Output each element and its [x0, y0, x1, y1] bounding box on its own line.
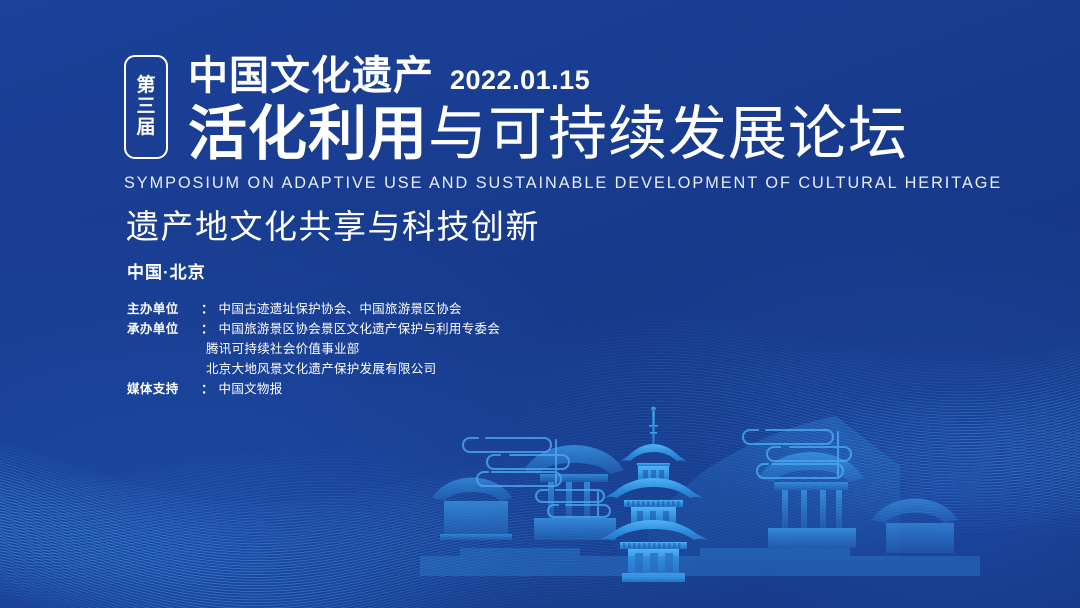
cloud-motif-2 [536, 490, 610, 517]
subtitle-english: SYMPOSIUM ON ADAPTIVE USE AND SUSTAINABL… [124, 175, 991, 192]
title-line-2-emphasis: 活化利用 [188, 103, 428, 166]
title-line-1: 中国文化遗产 [188, 56, 434, 96]
credit-media: 媒体支持 ： 中国文物报 [127, 379, 1004, 399]
credit-media-label: 媒体支持 [127, 379, 201, 399]
credit-media-colon: ： [201, 379, 214, 399]
credit-organizer-label: 承办单位 [127, 319, 201, 339]
title-line-2-rest: 与可持续发展论坛 [428, 103, 908, 166]
pavilion-left-illustration [432, 478, 512, 541]
cloud-motif-1 [463, 438, 569, 486]
pavilion-right-illustration [758, 452, 864, 548]
credit-host-value: 中国古迹遗址保护协会、中国旅游景区协会 [219, 299, 462, 319]
credit-organizer-value: 中国旅游景区协会景区文化遗产保护与利用专委会 [219, 319, 501, 339]
base-wall [420, 548, 980, 576]
pavilion-far-right-illustration [872, 499, 958, 554]
theme-line: 遗产地文化共享与科技创新 [126, 210, 1004, 243]
credit-media-value: 中国文物报 [219, 379, 283, 399]
credit-organizer-line3: 北京大地风景文化遗产保护发展有限公司 [127, 359, 1004, 379]
edition-badge-char-3: 届 [136, 118, 155, 138]
credit-host-colon: ： [201, 299, 214, 319]
credit-host: 主办单位 ： 中国古迹遗址保护协会、中国旅游景区协会 [127, 299, 1004, 319]
edition-badge: 第 三 届 [124, 55, 168, 159]
edition-badge-char-1: 第 [136, 76, 155, 96]
credit-organizer-colon: ： [201, 319, 214, 339]
pagoda-illustration [596, 407, 711, 582]
credits-block: 主办单位 ： 中国古迹遗址保护协会、中国旅游景区协会 承办单位 ： 中国旅游景区… [127, 299, 1004, 399]
credit-host-label: 主办单位 [127, 299, 201, 319]
temple-roof-backdrop [648, 416, 900, 560]
edition-badge-char-2: 三 [136, 97, 155, 117]
conference-poster: 第 三 届 中国文化遗产 2022.01.15 活化利用与可持续发展论坛 SYM… [0, 0, 1080, 608]
title-row-primary: 第 三 届 中国文化遗产 2022.01.15 [124, 44, 1004, 96]
credit-organizer: 承办单位 ： 中国旅游景区协会景区文化遗产保护与利用专委会 [127, 319, 1004, 339]
location-label: 中国·北京 [127, 264, 1004, 281]
cloud-motif-3 [743, 430, 851, 478]
credit-organizer-line2: 腾讯可持续社会价值事业部 [127, 339, 1004, 359]
event-date: 2022.01.15 [450, 67, 590, 94]
title-row-secondary: 活化利用与可持续发展论坛 [188, 103, 1004, 166]
pavilion-mid-left-illustration [524, 445, 624, 540]
poster-content: 第 三 届 中国文化遗产 2022.01.15 活化利用与可持续发展论坛 SYM… [124, 44, 1004, 399]
